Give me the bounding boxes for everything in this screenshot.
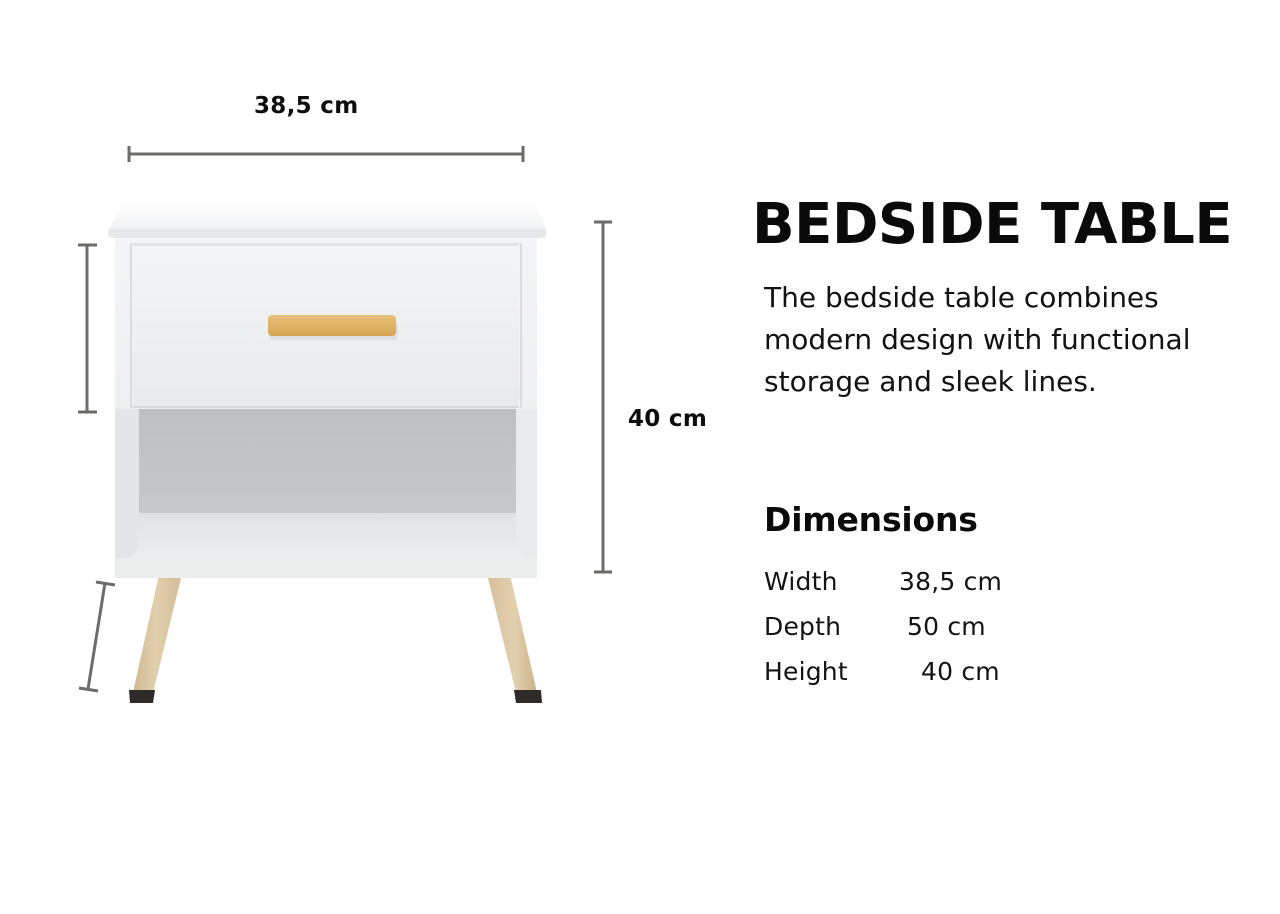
niche-right-wall xyxy=(516,409,537,562)
cabinet-bottom-rail xyxy=(115,558,537,578)
table-top-front-edge xyxy=(108,229,546,238)
dimensions-section: Dimensions Width 38,5 cm Depth 50 cm Hei… xyxy=(764,500,1184,702)
leg-height-dimension-line xyxy=(88,583,105,689)
spec-value-width: 38,5 cm xyxy=(899,567,1002,612)
niche-left-wall xyxy=(115,409,139,562)
height-dimension-label: 40 cm xyxy=(628,406,707,432)
width-dimension-label: 38,5 cm xyxy=(254,93,358,119)
niche-shelf-floor xyxy=(126,513,530,562)
drawer-handle-icon xyxy=(268,315,396,336)
spec-label-depth: Depth xyxy=(764,612,899,657)
product-spec-sheet: 38,5 cm 40 cm BEDSIDE TABLE The bedside … xyxy=(0,0,1280,914)
product-title: BEDSIDE TABLE xyxy=(752,196,1252,255)
leg-height-cap-bottom xyxy=(79,688,98,691)
left-leg-foot xyxy=(129,690,155,703)
spec-value-depth: 50 cm xyxy=(899,612,1002,657)
table-row: Depth 50 cm xyxy=(764,612,1002,657)
cabinet-body xyxy=(108,204,546,578)
right-leg xyxy=(486,570,538,697)
product-description: The bedside table combines modern design… xyxy=(752,277,1234,403)
bedside-table-drawing xyxy=(0,0,740,914)
spec-label-width: Width xyxy=(764,567,899,612)
left-leg xyxy=(132,570,183,697)
spec-value-height: 40 cm xyxy=(899,657,1002,702)
product-info-panel: BEDSIDE TABLE The bedside table combines… xyxy=(752,196,1252,403)
dimensions-heading: Dimensions xyxy=(764,500,1184,539)
product-illustration: 38,5 cm 40 cm xyxy=(0,0,740,914)
table-top-surface xyxy=(108,204,546,233)
table-row: Height 40 cm xyxy=(764,657,1002,702)
table-row: Width 38,5 cm xyxy=(764,567,1002,612)
spec-label-height: Height xyxy=(764,657,899,702)
right-leg-foot xyxy=(514,690,542,703)
dimensions-table: Width 38,5 cm Depth 50 cm Height 40 cm xyxy=(764,567,1002,702)
leg-height-cap-top xyxy=(96,582,115,585)
drawer-top-gap xyxy=(133,243,519,246)
table-legs xyxy=(129,570,542,703)
